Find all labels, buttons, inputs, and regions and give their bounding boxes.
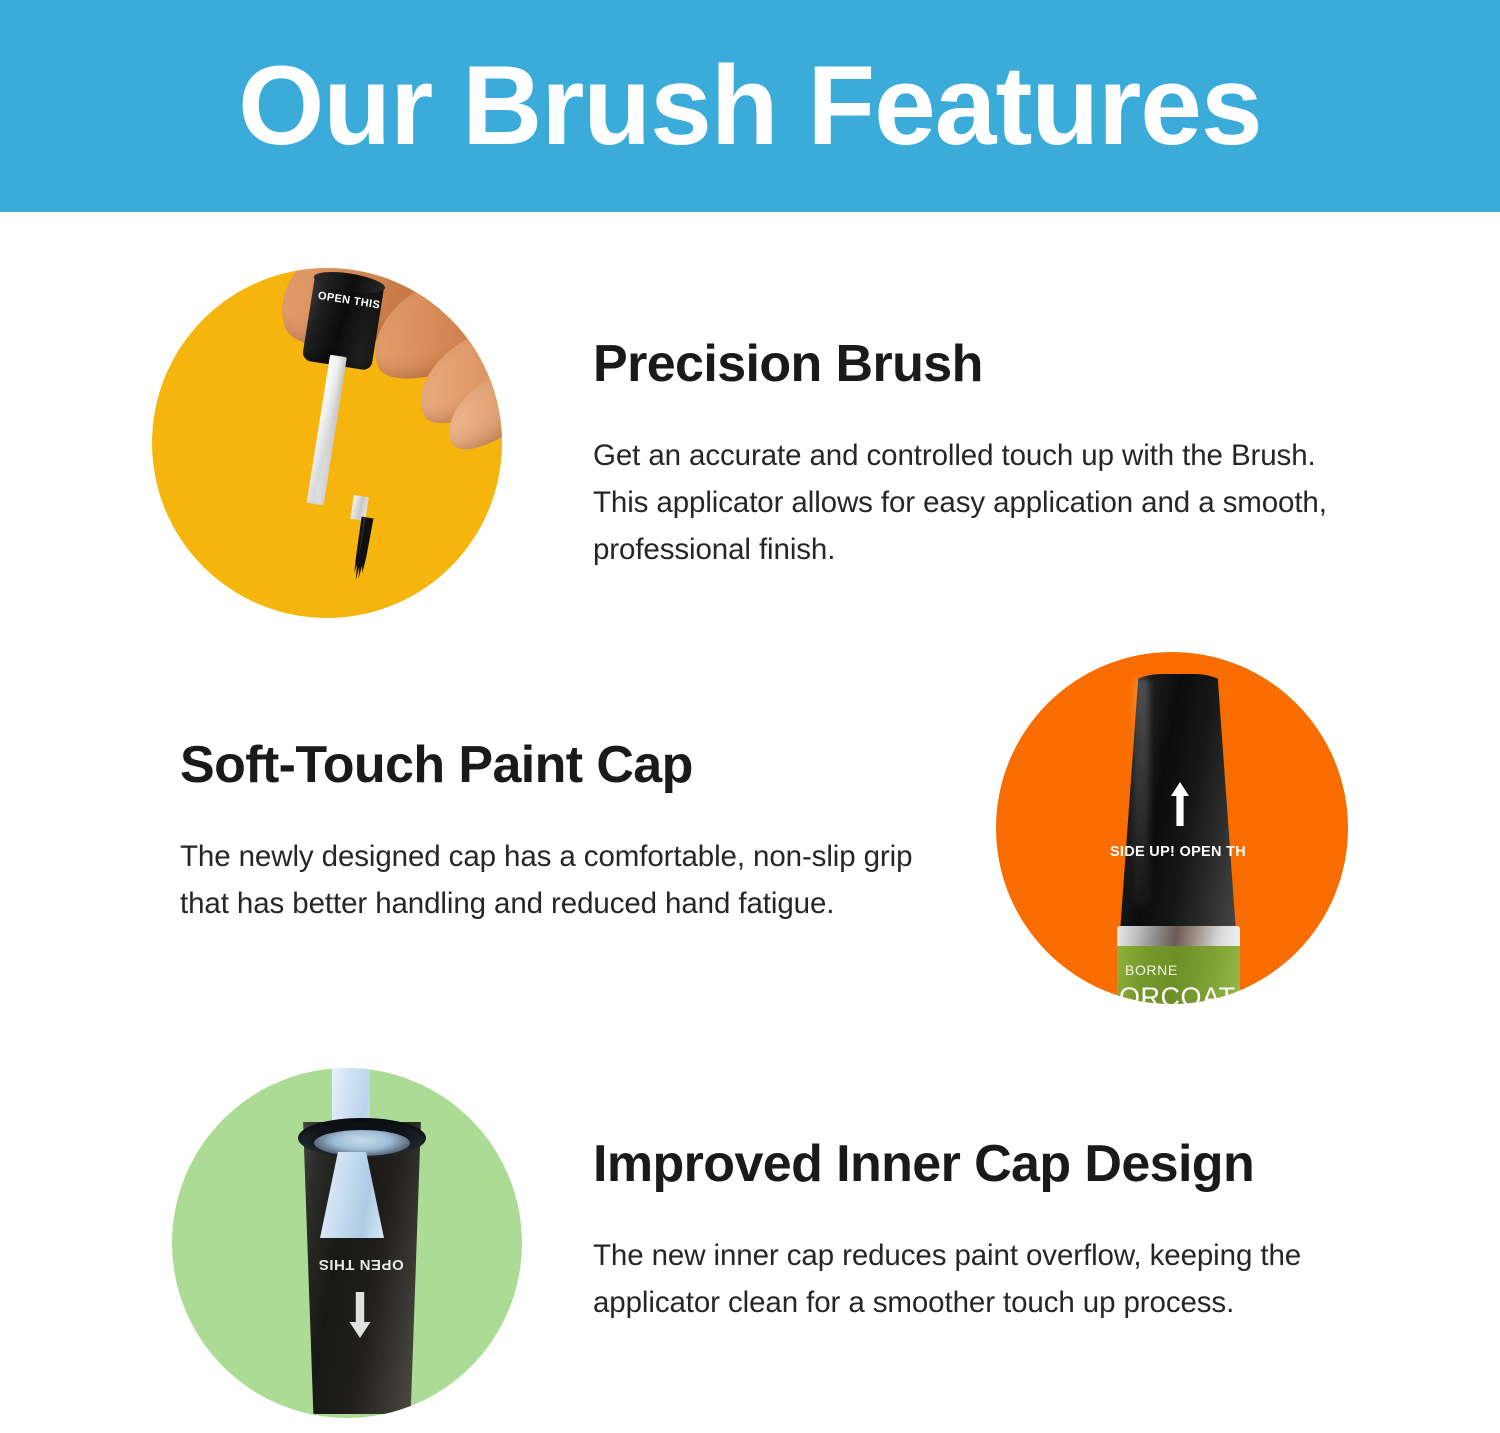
cap-instruction-text: OPEN THIS	[317, 290, 382, 312]
soft-touch-cap-photo: SIDE UP! OPEN TH BORNE ORCOAT	[996, 652, 1348, 1004]
soft-touch-cap-photo-clip: SIDE UP! OPEN TH BORNE ORCOAT	[996, 652, 1348, 1004]
precision-brush-photo: OPEN THIS	[152, 268, 502, 618]
page-title: Our Brush Features	[238, 50, 1261, 162]
brush-features-infographic: Our Brush Features OPEN THIS	[0, 0, 1500, 1433]
soft-touch-cap-text: Soft-Touch Paint Cap The newly designed …	[180, 738, 940, 927]
bottle-product-text: ORCOAT	[1119, 982, 1236, 1004]
up-arrow-icon	[1170, 782, 1190, 826]
page-header-banner: Our Brush Features	[0, 0, 1500, 212]
inner-cap-photo: OPEN THIS	[172, 1068, 522, 1418]
inner-cap-text: Improved Inner Cap Design The new inner …	[593, 1137, 1353, 1326]
feature-heading: Soft-Touch Paint Cap	[180, 738, 940, 793]
bottle-label: BORNE ORCOAT	[1117, 946, 1240, 1004]
feature-body: Get an accurate and controlled touch up …	[593, 432, 1353, 573]
feature-heading: Precision Brush	[593, 337, 1353, 392]
bottle-metal-collar	[1117, 926, 1240, 948]
cap-highlight	[1134, 678, 1150, 908]
down-arrow-icon	[348, 1292, 372, 1338]
feature-body: The new inner cap reduces paint overflow…	[593, 1232, 1353, 1326]
cap-instruction-text: SIDE UP! OPEN TH	[1108, 844, 1248, 860]
brush-bristles-icon	[350, 516, 375, 583]
inner-cap-photo-clip: OPEN THIS	[172, 1068, 522, 1418]
precision-brush-text: Precision Brush Get an accurate and cont…	[593, 337, 1353, 573]
feature-heading: Improved Inner Cap Design	[593, 1137, 1353, 1192]
cap-instruction-text: OPEN THIS	[296, 1256, 426, 1273]
feature-body: The newly designed cap has a comfortable…	[180, 833, 940, 927]
inner-cap-illustration: OPEN THIS	[268, 1068, 458, 1418]
precision-brush-photo-clip: OPEN THIS	[152, 268, 502, 618]
paint-pen-illustration: SIDE UP! OPEN TH BORNE ORCOAT	[1108, 662, 1248, 1004]
bottle-brand-text: BORNE	[1125, 962, 1178, 978]
